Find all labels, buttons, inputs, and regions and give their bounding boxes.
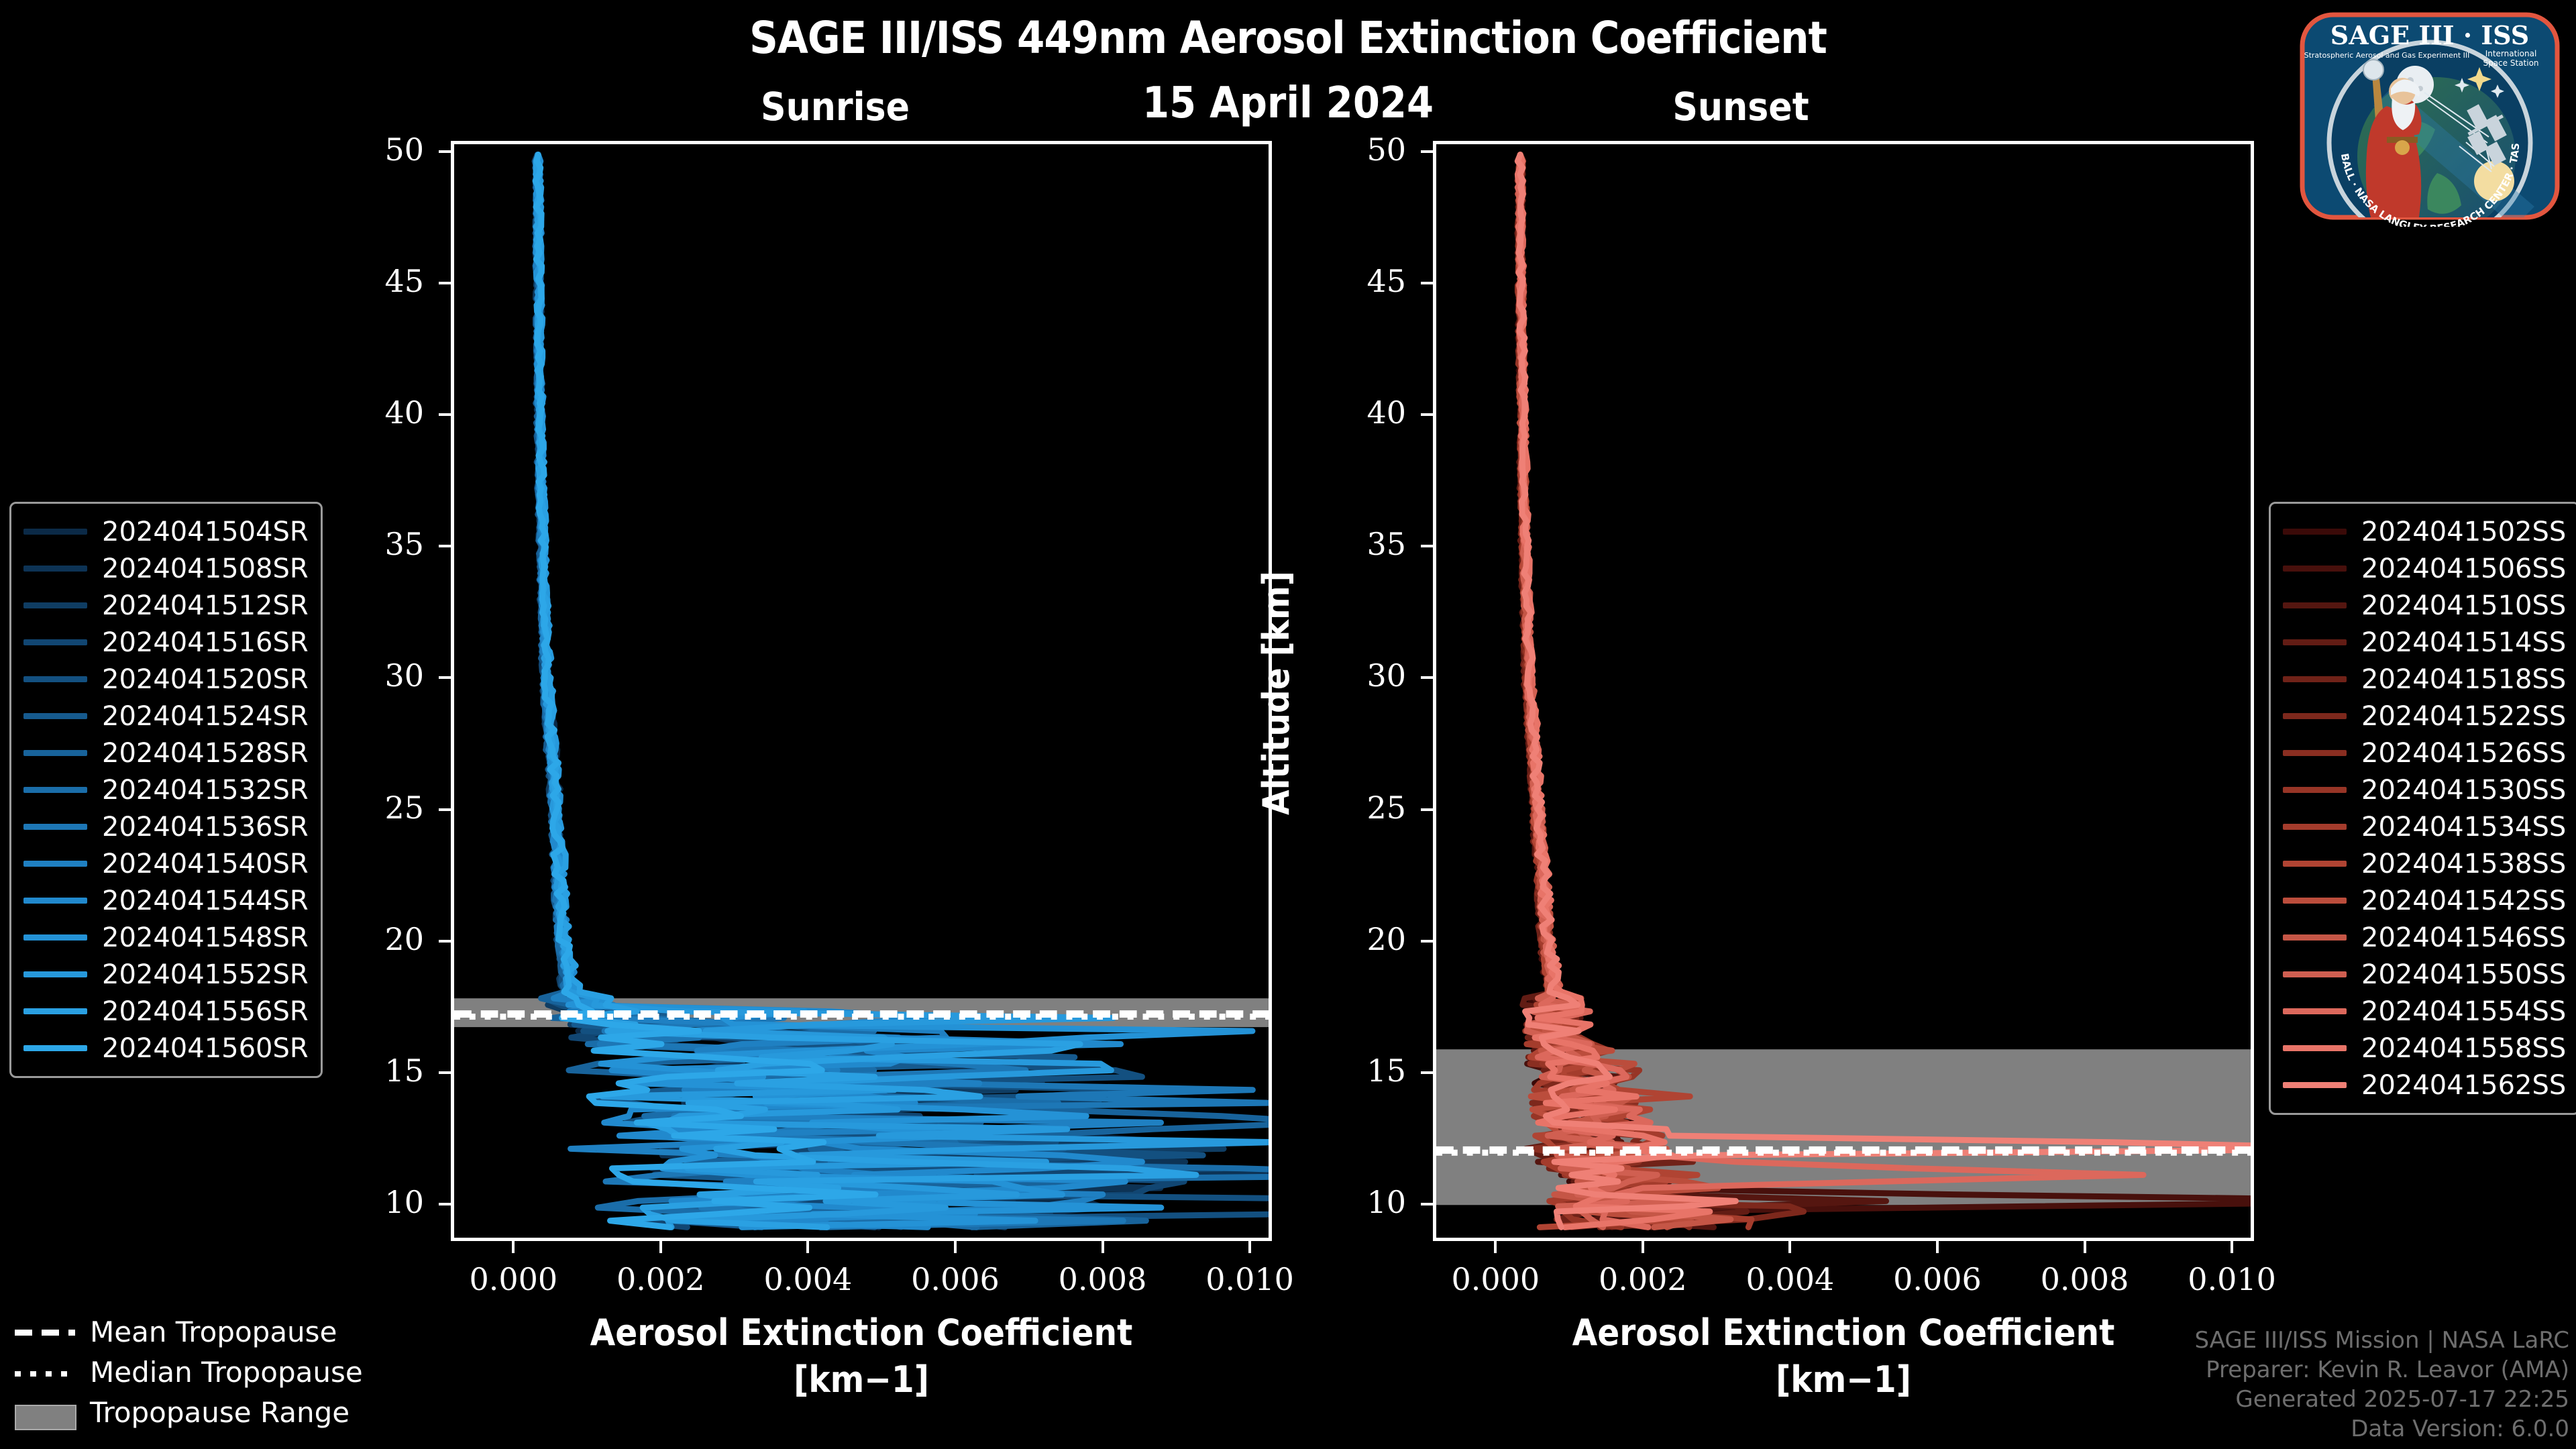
legend-item-label: 2024041506SS bbox=[2361, 553, 2566, 584]
legend-item-label: 2024041540SR bbox=[102, 849, 309, 879]
sage-iii-iss-mission-patch-logo: SAGE III · ISS Stratospheric Aerosol and… bbox=[2293, 5, 2567, 227]
legend-color-swatch bbox=[23, 676, 87, 682]
subtitle-row: Sunrise 15 April 2024 Sunset bbox=[0, 84, 2576, 132]
y-axis-tick-label: 10 bbox=[1305, 1184, 1406, 1220]
legend-label-mean: Mean Tropopause bbox=[90, 1316, 337, 1348]
legend-item-label: 2024041514SS bbox=[2361, 627, 2566, 658]
legend-color-swatch bbox=[2283, 676, 2347, 682]
y-axis-tick bbox=[1421, 1203, 1433, 1205]
legend-item[interactable]: 2024041508SR bbox=[23, 550, 309, 587]
x-axis-tick bbox=[806, 1241, 809, 1253]
legend-color-swatch bbox=[23, 750, 87, 756]
logo-subtitle-left: Stratospheric Aerosol and Gas Experiment… bbox=[2304, 51, 2470, 60]
legend-color-swatch bbox=[2283, 529, 2347, 535]
legend-color-swatch bbox=[23, 1045, 87, 1051]
legend-color-swatch bbox=[23, 713, 87, 719]
x-axis-tick bbox=[1936, 1241, 1939, 1253]
legend-item-label: 2024041522SS bbox=[2361, 701, 2566, 732]
legend-color-swatch bbox=[23, 787, 87, 793]
legend-item-label: 2024041516SR bbox=[102, 627, 309, 658]
x-axis-tick-label: 0.000 bbox=[426, 1261, 600, 1297]
y-axis-tick bbox=[1421, 413, 1433, 416]
y-axis-tick-label: 40 bbox=[323, 394, 424, 431]
legend-item-label: 2024041518SS bbox=[2361, 664, 2566, 695]
legend-label-median: Median Tropopause bbox=[90, 1356, 363, 1389]
plot-panel-sunset bbox=[1433, 141, 2254, 1241]
legend-item-label: 2024041508SR bbox=[102, 553, 309, 584]
legend-item[interactable]: 2024041562SS bbox=[2283, 1067, 2566, 1104]
legend-tropopause: Mean Tropopause Median Tropopause Tropop… bbox=[15, 1311, 363, 1432]
legend-item[interactable]: 2024041550SS bbox=[2283, 956, 2566, 993]
legend-item-label: 2024041542SS bbox=[2361, 885, 2566, 916]
logo-title: SAGE III · ISS bbox=[2330, 20, 2529, 50]
plot-panel-sunrise bbox=[451, 141, 1272, 1241]
x-axis-tick-label: 0.008 bbox=[1016, 1261, 1190, 1297]
y-axis-tick bbox=[1421, 1071, 1433, 1074]
legend-label-range: Tropopause Range bbox=[90, 1396, 350, 1429]
legend-item[interactable]: 2024041542SS bbox=[2283, 882, 2566, 919]
y-axis-tick-label: 30 bbox=[1305, 657, 1406, 694]
y-axis-tick bbox=[439, 545, 451, 547]
y-axis-tick bbox=[1421, 676, 1433, 679]
legend-item-label: 2024041530SS bbox=[2361, 775, 2566, 806]
legend-item[interactable]: 2024041538SS bbox=[2283, 845, 2566, 882]
legend-color-swatch bbox=[23, 898, 87, 904]
y-axis-tick bbox=[1421, 940, 1433, 943]
legend-item-median-tropopause: Median Tropopause bbox=[15, 1352, 363, 1392]
legend-item[interactable]: 2024041546SS bbox=[2283, 919, 2566, 956]
legend-color-swatch bbox=[2283, 934, 2347, 941]
legend-color-swatch bbox=[23, 861, 87, 867]
y-axis-tick-label: 25 bbox=[323, 790, 424, 826]
legend-item[interactable]: 2024041536SR bbox=[23, 808, 309, 845]
y-axis-tick bbox=[439, 413, 451, 416]
x-axis-tick bbox=[512, 1241, 515, 1253]
sunset-profile-plot bbox=[1436, 144, 2251, 1238]
legend-item-label: 2024041524SR bbox=[102, 701, 309, 732]
legend-item-label: 2024041534SS bbox=[2361, 812, 2566, 843]
y-axis-tick bbox=[439, 1071, 451, 1074]
observation-date: 15 April 2024 bbox=[1023, 78, 1553, 128]
footer-credits: SAGE III/ISS Mission | NASA LaRC Prepare… bbox=[2194, 1326, 2569, 1444]
legend-item-label: 2024041538SS bbox=[2361, 849, 2566, 879]
y-axis-tick-label: 15 bbox=[323, 1053, 424, 1089]
legend-color-swatch bbox=[2283, 971, 2347, 977]
legend-item-label: 2024041510SS bbox=[2361, 590, 2566, 621]
legend-item-label: 2024041562SS bbox=[2361, 1070, 2566, 1101]
legend-item-label: 2024041536SR bbox=[102, 812, 309, 843]
y-axis-tick bbox=[439, 940, 451, 943]
legend-item[interactable]: 2024041528SR bbox=[23, 735, 309, 771]
y-axis-tick-label: 50 bbox=[1305, 131, 1406, 168]
x-axis-tick-label: 0.000 bbox=[1408, 1261, 1582, 1297]
legend-item-tropopause-range: Tropopause Range bbox=[15, 1392, 363, 1432]
x-axis-tick bbox=[954, 1241, 957, 1253]
x-axis-tick-label: 0.008 bbox=[1998, 1261, 2172, 1297]
footer-line-generated: Generated 2025-07-17 22:25 bbox=[2194, 1385, 2569, 1414]
x-axis-tick-label: 0.006 bbox=[868, 1261, 1042, 1297]
legend-item[interactable]: 2024041518SS bbox=[2283, 661, 2566, 698]
logo-subtitle-right-1: International bbox=[2485, 49, 2537, 58]
x-axis-tick bbox=[2084, 1241, 2086, 1253]
legend-item[interactable]: 2024041516SR bbox=[23, 624, 309, 661]
y-axis-tick-label: 30 bbox=[323, 657, 424, 694]
legend-item[interactable]: 2024041556SR bbox=[23, 993, 309, 1030]
legend-color-swatch bbox=[2283, 898, 2347, 904]
legend-item[interactable]: 2024041530SS bbox=[2283, 771, 2566, 808]
x-axis-unit: [km−1] bbox=[384, 1358, 1339, 1401]
y-axis-tick bbox=[439, 150, 451, 153]
legend-item-label: 2024041532SR bbox=[102, 775, 309, 806]
legend-color-swatch bbox=[2283, 824, 2347, 830]
sunrise-label: Sunrise bbox=[647, 84, 1023, 129]
x-axis-tick bbox=[1788, 1241, 1791, 1253]
legend-item[interactable]: 2024041560SR bbox=[23, 1030, 309, 1067]
y-axis-tick-label: 25 bbox=[1305, 790, 1406, 826]
x-axis-tick bbox=[1494, 1241, 1497, 1253]
y-axis-tick-label: 35 bbox=[1305, 526, 1406, 562]
legend-item[interactable]: 2024041524SR bbox=[23, 698, 309, 735]
x-axis-tick-label: 0.004 bbox=[720, 1261, 895, 1297]
dotted-line-icon bbox=[15, 1364, 75, 1379]
y-axis-tick-label: 35 bbox=[323, 526, 424, 562]
legend-color-swatch bbox=[23, 1008, 87, 1014]
y-axis-tick-label: 45 bbox=[1305, 263, 1406, 299]
legend-item-label: 2024041512SR bbox=[102, 590, 309, 621]
legend-item-label: 2024041526SS bbox=[2361, 738, 2566, 769]
legend-item[interactable]: 2024041504SR bbox=[23, 513, 309, 550]
legend-color-swatch bbox=[2283, 1045, 2347, 1051]
legend-color-swatch bbox=[2283, 750, 2347, 756]
legend-item[interactable]: 2024041544SR bbox=[23, 882, 309, 919]
sunset-label: Sunset bbox=[1553, 84, 1929, 129]
legend-item[interactable]: 2024041540SR bbox=[23, 845, 309, 882]
legend-color-swatch bbox=[23, 529, 87, 535]
legend-item-label: 2024041548SR bbox=[102, 922, 309, 953]
y-axis-tick-label: 40 bbox=[1305, 394, 1406, 431]
legend-color-swatch bbox=[2283, 1008, 2347, 1014]
legend-color-swatch bbox=[2283, 602, 2347, 608]
x-axis-tick-label: 0.002 bbox=[1556, 1261, 1730, 1297]
x-axis-tick bbox=[2231, 1241, 2233, 1253]
legend-item[interactable]: 2024041510SS bbox=[2283, 587, 2566, 624]
x-axis-title: Aerosol Extinction Coefficient bbox=[1366, 1311, 2321, 1354]
y-axis-tick bbox=[1421, 150, 1433, 153]
dashed-line-icon bbox=[15, 1324, 75, 1339]
legend-item[interactable]: 2024041506SS bbox=[2283, 550, 2566, 587]
legend-item-label: 2024041544SR bbox=[102, 885, 309, 916]
legend-color-swatch bbox=[23, 934, 87, 941]
legend-item-label: 2024041528SR bbox=[102, 738, 309, 769]
legend-item-label: 2024041504SR bbox=[102, 517, 309, 547]
y-axis-tick bbox=[1421, 808, 1433, 811]
legend-item-label: 2024041560SR bbox=[102, 1033, 309, 1064]
legend-color-swatch bbox=[2283, 787, 2347, 793]
y-axis-tick-label: 50 bbox=[323, 131, 424, 168]
legend-item[interactable]: 2024041558SS bbox=[2283, 1030, 2566, 1067]
legend-sunrise[interactable]: 2024041504SR2024041508SR2024041512SR2024… bbox=[9, 502, 323, 1078]
x-axis-tick-label: 0.010 bbox=[1163, 1261, 1337, 1297]
legend-item-mean-tropopause: Mean Tropopause bbox=[15, 1311, 363, 1352]
legend-item[interactable]: 2024041554SS bbox=[2283, 993, 2566, 1030]
y-axis-tick-label: 20 bbox=[1305, 921, 1406, 957]
y-axis-tick-label: 15 bbox=[1305, 1053, 1406, 1089]
x-axis-tick bbox=[1248, 1241, 1251, 1253]
legend-sunset[interactable]: 2024041502SS2024041506SS2024041510SS2024… bbox=[2269, 502, 2576, 1115]
y-axis-tick bbox=[439, 282, 451, 284]
page-title: SAGE III/ISS 449nm Aerosol Extinction Co… bbox=[0, 12, 2576, 64]
legend-item-label: 2024041520SR bbox=[102, 664, 309, 695]
legend-color-swatch bbox=[23, 971, 87, 977]
x-axis-tick bbox=[1642, 1241, 1644, 1253]
legend-item-label: 2024041546SS bbox=[2361, 922, 2566, 953]
legend-item-label: 2024041558SS bbox=[2361, 1033, 2566, 1064]
legend-item[interactable]: 2024041502SS bbox=[2283, 513, 2566, 550]
legend-color-swatch bbox=[23, 602, 87, 608]
legend-color-swatch bbox=[2283, 713, 2347, 719]
legend-item-label: 2024041552SR bbox=[102, 959, 309, 990]
x-axis-tick bbox=[1102, 1241, 1104, 1253]
legend-item[interactable]: 2024041552SR bbox=[23, 956, 309, 993]
y-axis-tick-label: 10 bbox=[323, 1184, 424, 1220]
legend-item[interactable]: 2024041512SR bbox=[23, 587, 309, 624]
legend-item[interactable]: 2024041514SS bbox=[2283, 624, 2566, 661]
x-axis-tick-label: 0.004 bbox=[1703, 1261, 1877, 1297]
y-axis-tick bbox=[439, 808, 451, 811]
legend-item[interactable]: 2024041520SR bbox=[23, 661, 309, 698]
legend-color-swatch bbox=[23, 824, 87, 830]
y-axis-tick bbox=[1421, 282, 1433, 284]
x-axis-tick-label: 0.006 bbox=[1850, 1261, 2025, 1297]
legend-color-swatch bbox=[23, 639, 87, 645]
legend-item[interactable]: 2024041534SS bbox=[2283, 808, 2566, 845]
x-axis-unit: [km−1] bbox=[1366, 1358, 2321, 1401]
legend-item-label: 2024041502SS bbox=[2361, 517, 2566, 547]
footer-line-preparer: Preparer: Kevin R. Leavor (AMA) bbox=[2194, 1355, 2569, 1385]
footer-line-version: Data Version: 6.0.0 bbox=[2194, 1414, 2569, 1444]
y-axis-tick bbox=[439, 676, 451, 679]
legend-item-label: 2024041556SR bbox=[102, 996, 309, 1027]
legend-item[interactable]: 2024041522SS bbox=[2283, 698, 2566, 735]
legend-item[interactable]: 2024041526SS bbox=[2283, 735, 2566, 771]
legend-item[interactable]: 2024041532SR bbox=[23, 771, 309, 808]
logo-subtitle-right-2: Space Station bbox=[2483, 58, 2538, 68]
legend-item-label: 2024041550SS bbox=[2361, 959, 2566, 990]
gray-band-icon bbox=[15, 1405, 75, 1419]
legend-color-swatch bbox=[2283, 566, 2347, 572]
footer-line-mission: SAGE III/ISS Mission | NASA LaRC bbox=[2194, 1326, 2569, 1355]
y-axis-tick-label: 20 bbox=[323, 921, 424, 957]
y-axis-tick-label: 45 bbox=[323, 263, 424, 299]
legend-item-label: 2024041554SS bbox=[2361, 996, 2566, 1027]
x-axis-tick-label: 0.002 bbox=[574, 1261, 748, 1297]
y-axis-tick bbox=[439, 1203, 451, 1205]
x-axis-tick-label: 0.010 bbox=[2145, 1261, 2319, 1297]
legend-color-swatch bbox=[2283, 861, 2347, 867]
sunrise-profile-plot bbox=[454, 144, 1269, 1238]
x-axis-tick bbox=[659, 1241, 662, 1253]
legend-item[interactable]: 2024041548SR bbox=[23, 919, 309, 956]
y-axis-tick bbox=[1421, 545, 1433, 547]
legend-color-swatch bbox=[2283, 1082, 2347, 1088]
legend-color-swatch bbox=[23, 566, 87, 572]
x-axis-title: Aerosol Extinction Coefficient bbox=[384, 1311, 1339, 1354]
legend-color-swatch bbox=[2283, 639, 2347, 645]
